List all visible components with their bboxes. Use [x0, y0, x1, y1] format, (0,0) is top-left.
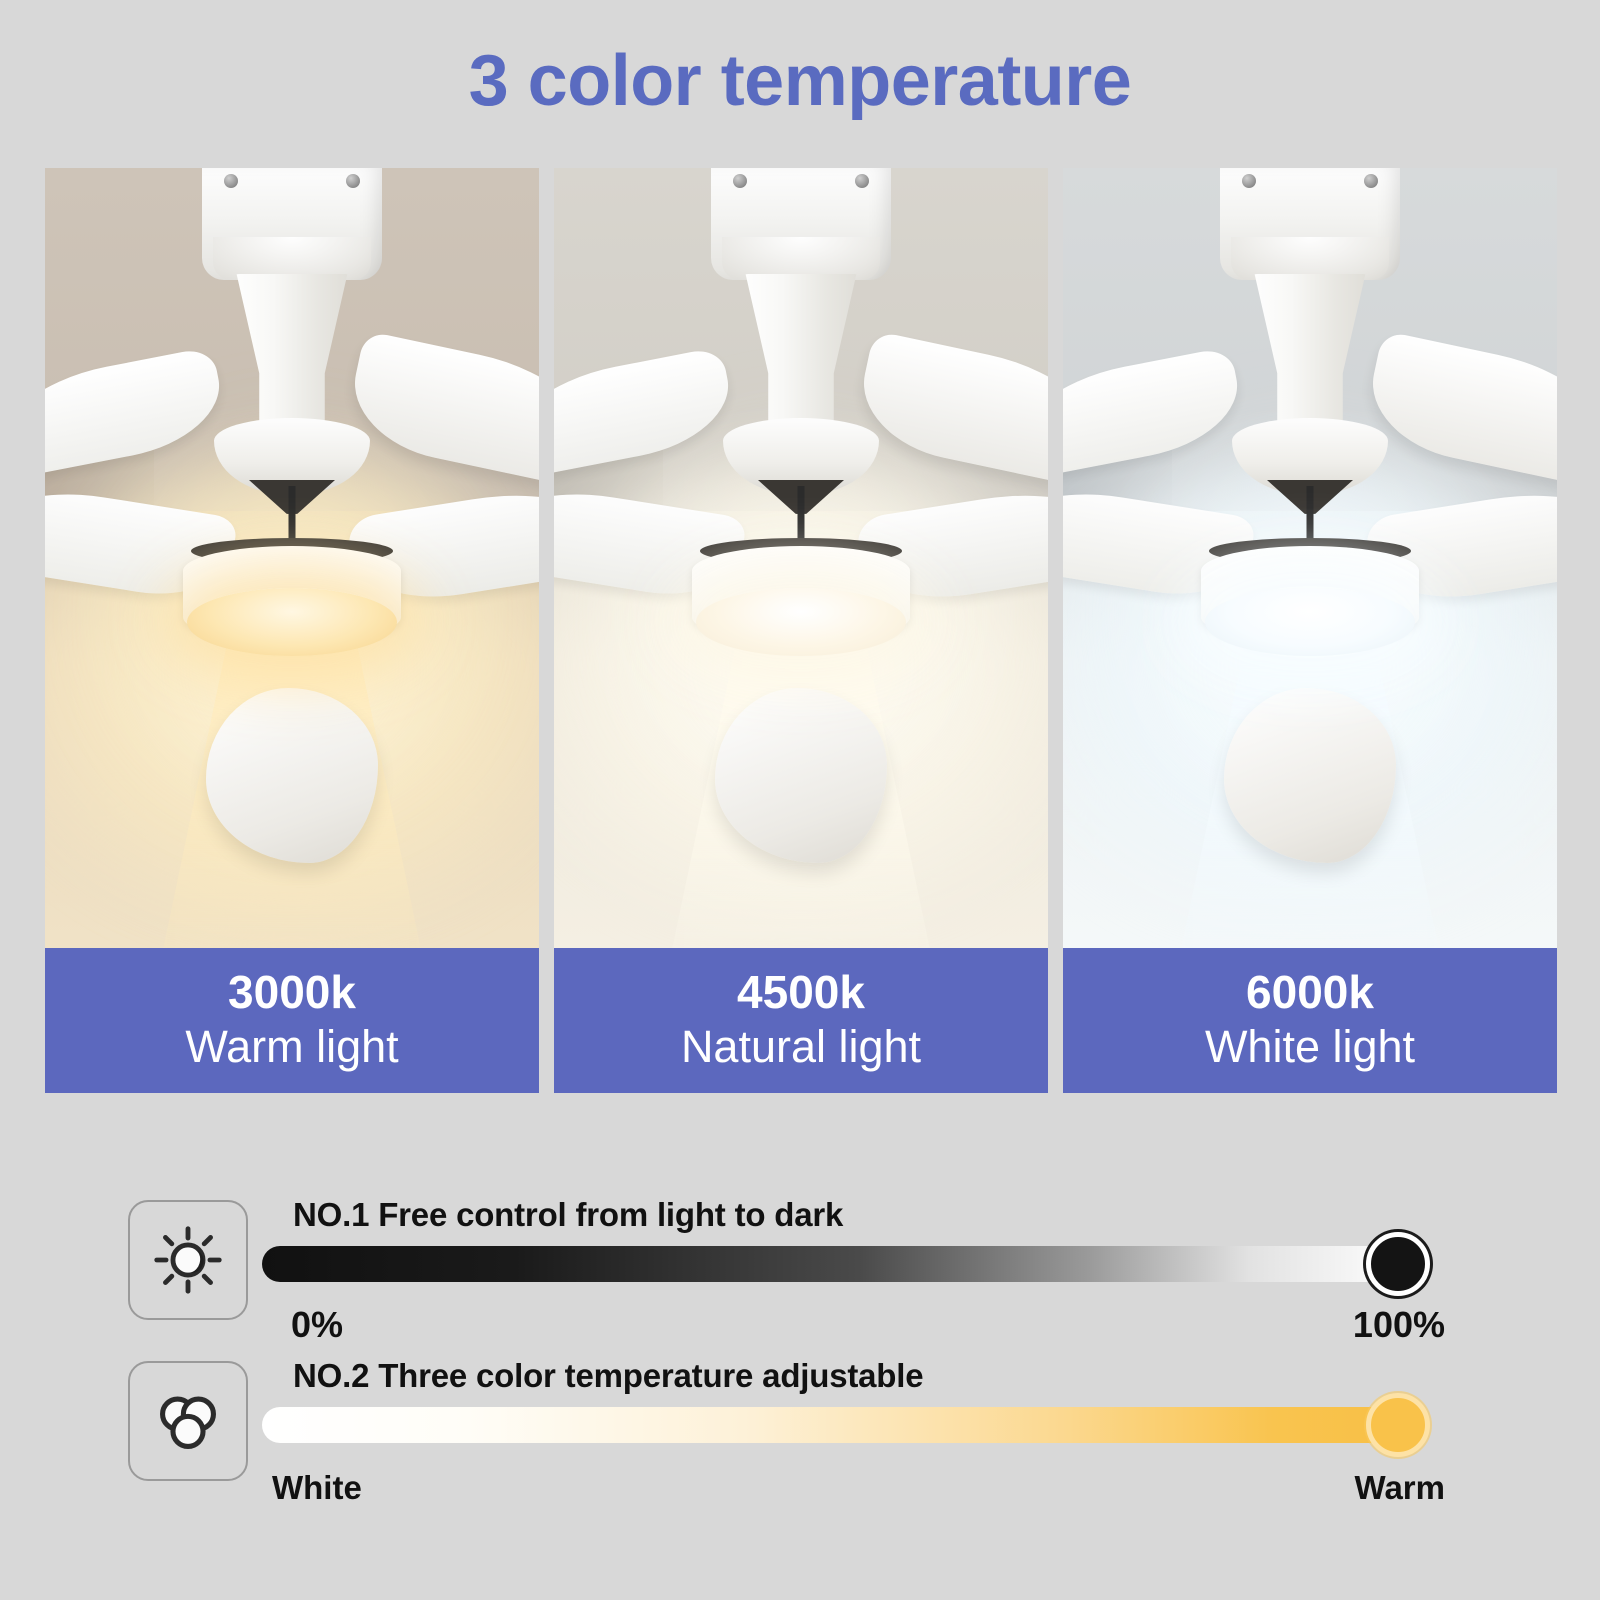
caption-warm: 3000k Warm light	[45, 948, 539, 1093]
brightness-slider-thumb[interactable]	[1366, 1232, 1430, 1296]
photo-warm	[45, 168, 539, 948]
light-type-label: Warm light	[185, 1021, 398, 1073]
ceiling-canopy	[1220, 168, 1400, 280]
infographic-page: 3 color temperature	[0, 0, 1600, 1600]
kelvin-value: 3000k	[228, 968, 356, 1016]
kelvin-value: 4500k	[737, 968, 865, 1016]
canopy-screw	[346, 174, 360, 188]
light-fixture	[1201, 546, 1419, 642]
panel-natural: 4500k Natural light	[554, 168, 1048, 1093]
light-fixture	[692, 546, 910, 642]
color-temperature-slider-track[interactable]	[262, 1407, 1410, 1443]
canopy-screw	[1242, 174, 1256, 188]
fixture-lens	[1205, 588, 1415, 656]
color-temperature-slider-thumb[interactable]	[1366, 1393, 1430, 1457]
color-temperature-min-label: White	[272, 1469, 362, 1507]
light-type-label: White light	[1205, 1021, 1415, 1073]
canopy-screw	[855, 174, 869, 188]
color-temperature-icon-box	[128, 1361, 248, 1481]
fixture-lens	[187, 588, 397, 656]
ceiling-canopy	[202, 168, 382, 280]
caption-white: 6000k White light	[1063, 948, 1557, 1093]
brightness-slider-track[interactable]	[262, 1246, 1410, 1282]
panel-warm: 3000k Warm light	[45, 168, 539, 1093]
kelvin-value: 6000k	[1246, 968, 1374, 1016]
ceiling-canopy	[711, 168, 891, 280]
canopy-screw	[1364, 174, 1378, 188]
caption-natural: 4500k Natural light	[554, 948, 1048, 1093]
page-title: 3 color temperature	[0, 40, 1600, 122]
photo-natural	[554, 168, 1048, 948]
panel-white: 6000k White light	[1063, 168, 1557, 1093]
light-type-label: Natural light	[681, 1021, 921, 1073]
photo-white	[1063, 168, 1557, 948]
color-temperature-title: NO.2 Three color temperature adjustable	[293, 1357, 923, 1395]
brightness-title: NO.1 Free control from light to dark	[293, 1196, 843, 1234]
fixture-lens	[696, 588, 906, 656]
brightness-icon-box	[128, 1200, 248, 1320]
brightness-min-label: 0%	[291, 1304, 343, 1346]
brightness-max-label: 100%	[1353, 1304, 1445, 1346]
canopy-screw	[733, 174, 747, 188]
color-temperature-panels: 3000k Warm light	[45, 168, 1557, 1093]
light-fixture	[183, 546, 401, 642]
color-mixing-circles-icon	[151, 1384, 225, 1458]
color-temperature-max-label: Warm	[1355, 1469, 1445, 1507]
brightness-sun-moon-icon	[151, 1223, 225, 1297]
canopy-screw	[224, 174, 238, 188]
